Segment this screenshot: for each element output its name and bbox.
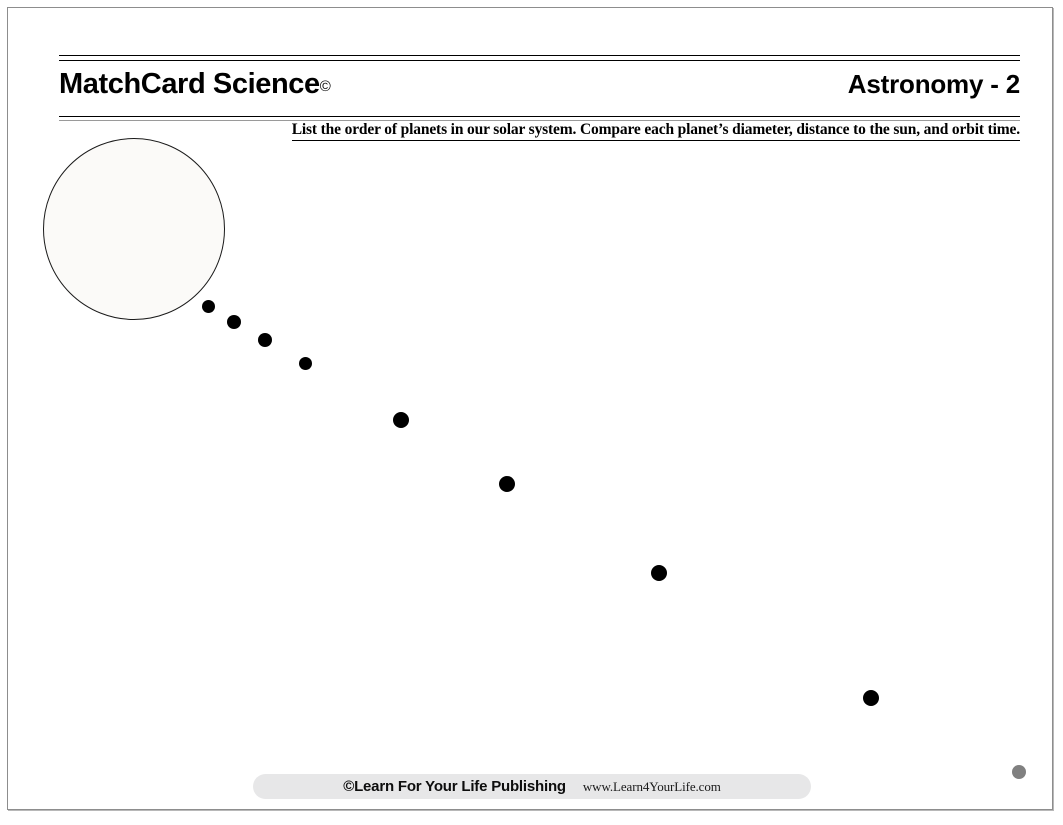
planet-1-shape bbox=[202, 300, 215, 313]
footer-content: ©Learn For Your Life Publishing www.Lear… bbox=[253, 774, 811, 799]
planet-6-shape bbox=[499, 476, 515, 492]
planet-9-shape bbox=[1012, 765, 1026, 779]
page-title: MatchCard Science© bbox=[59, 68, 330, 101]
header-top-rule bbox=[59, 55, 1020, 61]
footer-bar: ©Learn For Your Life Publishing www.Lear… bbox=[253, 774, 811, 799]
instructions: List the order of planets in our solar s… bbox=[59, 121, 1020, 141]
sun-shape bbox=[43, 138, 225, 320]
planet-7-shape bbox=[651, 565, 667, 581]
subject-heading: Astronomy - 2 bbox=[848, 69, 1020, 100]
planet-4-shape bbox=[299, 357, 312, 370]
publisher-label: ©Learn For Your Life Publishing bbox=[343, 778, 566, 795]
worksheet-page: MatchCard Science© Astronomy - 2 List th… bbox=[7, 7, 1053, 810]
website-label[interactable]: www.Learn4YourLife.com bbox=[583, 779, 721, 795]
planet-8-shape bbox=[863, 690, 879, 706]
instructions-text: List the order of planets in our solar s… bbox=[292, 121, 1020, 141]
page-title-text: MatchCard Science bbox=[59, 68, 320, 100]
header-title-row: MatchCard Science© Astronomy - 2 bbox=[59, 68, 1020, 110]
planet-3-shape bbox=[258, 333, 272, 347]
copyright-icon: © bbox=[320, 78, 331, 95]
planet-2-shape bbox=[227, 315, 241, 329]
planet-5-shape bbox=[393, 412, 409, 428]
